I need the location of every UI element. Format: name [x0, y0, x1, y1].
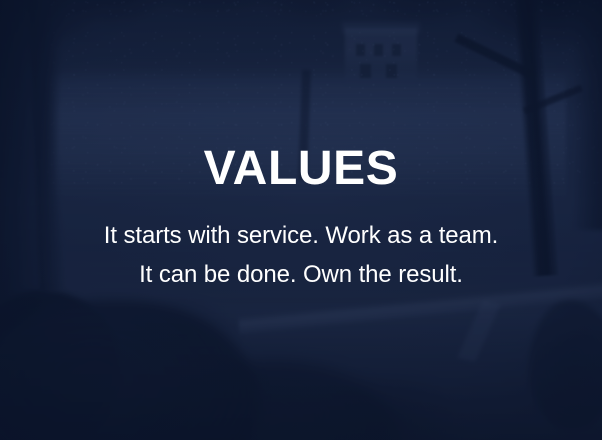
values-hero-banner: VALUES It starts with service. Work as a…: [0, 0, 602, 440]
banner-subline-2: It can be done. Own the result.: [139, 256, 463, 295]
banner-subline-1: It starts with service. Work as a team.: [104, 217, 498, 256]
banner-content: VALUES It starts with service. Work as a…: [0, 0, 602, 440]
banner-headline: VALUES: [204, 145, 399, 195]
